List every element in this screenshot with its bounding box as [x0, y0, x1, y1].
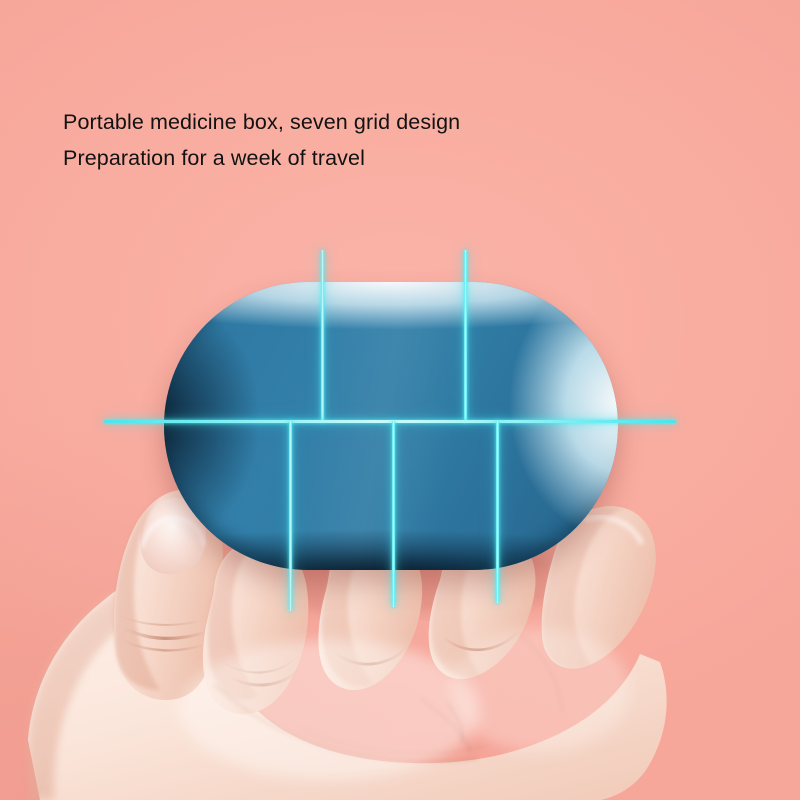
headline-line-2: Preparation for a week of travel	[63, 140, 683, 176]
portable-medicine-box[interactable]	[164, 282, 618, 570]
box-right-highlight-rim	[164, 282, 618, 570]
box-top-highlight-rim	[164, 282, 618, 570]
box-bottom-shadow-rim	[164, 282, 618, 570]
palm-highlight-right	[450, 628, 630, 752]
headline-block: Portable medicine box, seven grid design…	[63, 104, 683, 176]
box-left-shadow-rim	[164, 282, 618, 570]
headline-line-1: Portable medicine box, seven grid design	[63, 104, 683, 140]
product-photo-canvas: Portable medicine box, seven grid design…	[0, 0, 800, 800]
box-surface-sheen	[164, 282, 618, 570]
palm-highlight	[180, 640, 480, 780]
